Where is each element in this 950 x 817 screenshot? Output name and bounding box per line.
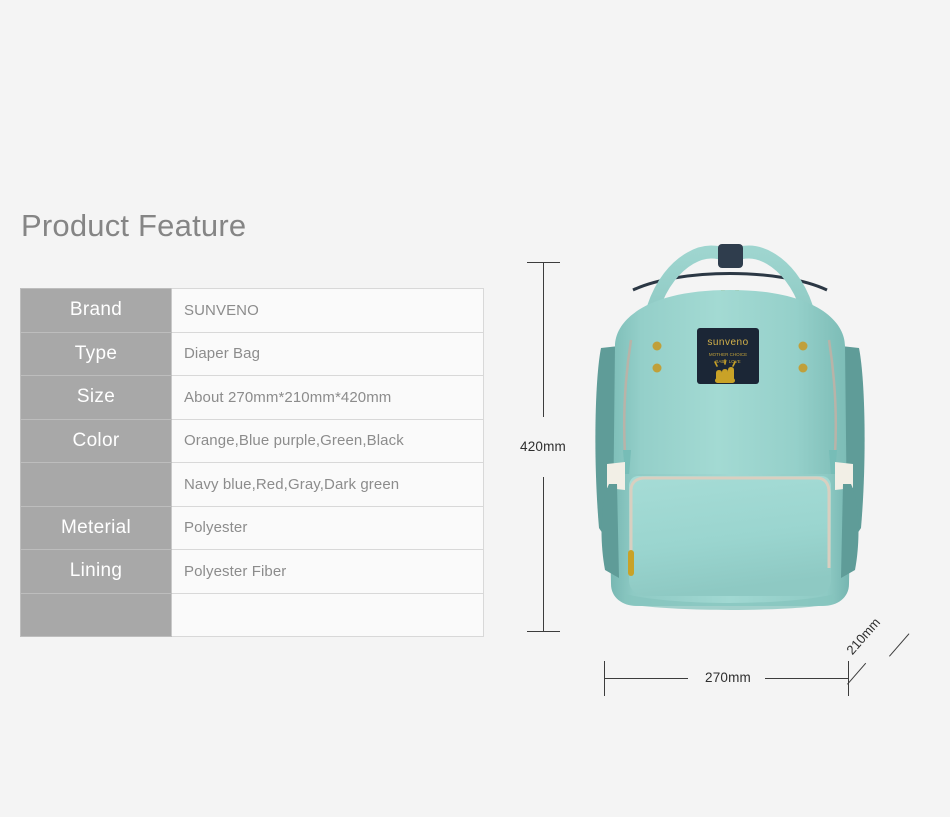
table-row: Navy blue,Red,Gray,Dark green (21, 463, 484, 507)
table-row: Lining Polyester Fiber (21, 550, 484, 594)
width-dimension-label: 270mm (663, 670, 793, 685)
product-feature-page: Product Feature Brand SUNVENO Type Diape… (0, 0, 950, 817)
spec-label-blank-1 (21, 463, 172, 507)
bag-pocket-zipper-pull (628, 550, 634, 576)
table-row: Size About 270mm*210mm*420mm (21, 376, 484, 420)
bag-front-pocket (629, 476, 831, 596)
spec-table-body: Brand SUNVENO Type Diaper Bag Size About… (21, 289, 484, 637)
spec-label-color: Color (21, 419, 172, 463)
spec-value-size: About 270mm*210mm*420mm (172, 376, 484, 420)
spec-label-brand: Brand (21, 289, 172, 333)
bag-handle-wrap (718, 244, 743, 268)
table-row: Brand SUNVENO (21, 289, 484, 333)
spec-label-lining: Lining (21, 550, 172, 594)
bag-logo-text: sunveno (707, 337, 748, 348)
depth-dimension-label: 210mm (843, 615, 883, 658)
spec-value-color-line1: Orange,Blue purple,Green,Black (172, 419, 484, 463)
product-spec-table: Brand SUNVENO Type Diaper Bag Size About… (20, 288, 484, 637)
height-dimension-label: 420mm (499, 439, 587, 454)
table-row: Color Orange,Blue purple,Green,Black (21, 419, 484, 463)
spec-label-blank-2 (21, 593, 172, 637)
bag-logo-subtext-2: BABY LOVE (715, 359, 740, 364)
page-title: Product Feature (21, 208, 246, 244)
table-row: Meterial Polyester (21, 506, 484, 550)
spec-value-meterial: Polyester (172, 506, 484, 550)
bag-rivet-top-left (653, 342, 662, 351)
spec-value-lining: Polyester Fiber (172, 550, 484, 594)
height-dimension-segment-lower (543, 477, 544, 632)
spec-label-meterial: Meterial (21, 506, 172, 550)
product-image-backpack: sunveno MOTHER CHOICE BABY LOVE (585, 228, 875, 613)
bag-logo-subtext-1: MOTHER CHOICE (709, 352, 747, 357)
bag-rivet-bottom-right (799, 364, 808, 373)
table-row: Type Diaper Bag (21, 332, 484, 376)
spec-value-type: Diaper Bag (172, 332, 484, 376)
bag-rivet-bottom-left (653, 364, 662, 373)
spec-value-color-line2: Navy blue,Red,Gray,Dark green (172, 463, 484, 507)
spec-label-type: Type (21, 332, 172, 376)
table-row (21, 593, 484, 637)
height-dimension-cap-bottom (527, 631, 560, 632)
spec-value-blank-2 (172, 593, 484, 637)
spec-label-size: Size (21, 376, 172, 420)
backpack-illustration: sunveno MOTHER CHOICE BABY LOVE (585, 228, 875, 613)
depth-dimension-label-wrap: 210mm (843, 617, 915, 689)
bag-rivet-top-right (799, 342, 808, 351)
height-dimension-segment-upper (543, 262, 544, 417)
spec-value-brand: SUNVENO (172, 289, 484, 333)
